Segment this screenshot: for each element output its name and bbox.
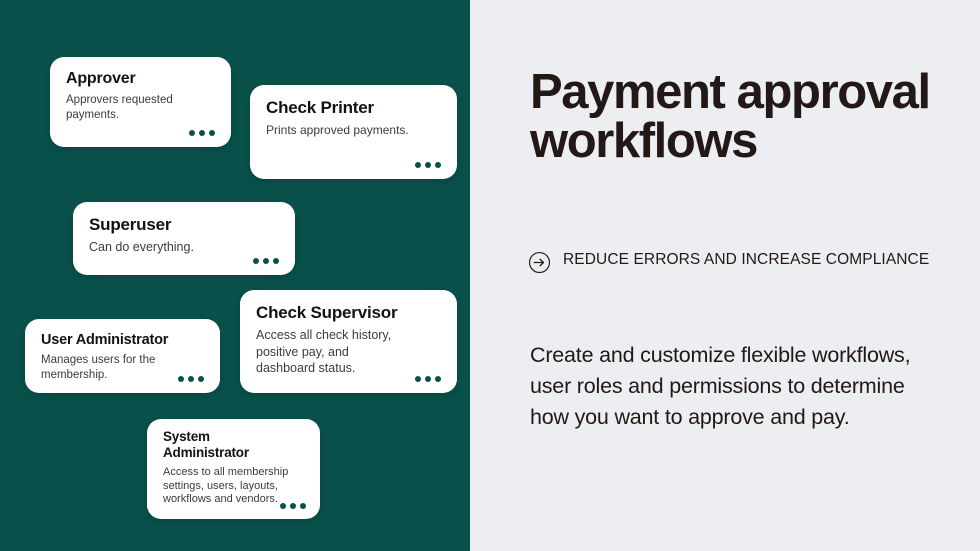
role-card-superuser[interactable]: Superuser Can do everything.	[73, 202, 295, 275]
more-horizontal-icon[interactable]	[280, 503, 306, 509]
eyebrow-row: REDUCE ERRORS AND INCREASE COMPLIANCE	[528, 250, 938, 274]
dot	[290, 503, 296, 509]
dot	[280, 503, 286, 509]
role-card-description: Access to all membership settings, users…	[163, 466, 298, 507]
slide-root: Approver Approvers requested payments. C…	[0, 0, 980, 551]
dot	[189, 130, 195, 136]
dot	[415, 376, 421, 382]
role-card-title: Check Printer	[266, 97, 441, 118]
role-card-title: Superuser	[89, 214, 279, 235]
body-paragraph: Create and customize flexible workflows,…	[530, 340, 930, 433]
role-card-title: System Administrator	[163, 429, 273, 461]
dot	[300, 503, 306, 509]
role-card-system-administrator[interactable]: System Administrator Access to all membe…	[147, 419, 320, 519]
arrow-right-circle-icon	[528, 251, 551, 274]
role-card-description: Manages users for the membership.	[41, 353, 186, 382]
role-card-title: User Administrator	[41, 331, 204, 349]
dot	[209, 130, 215, 136]
dot	[415, 162, 421, 168]
more-horizontal-icon[interactable]	[189, 130, 215, 136]
dot	[198, 376, 204, 382]
role-card-user-administrator[interactable]: User Administrator Manages users for the…	[25, 319, 220, 393]
left-green-panel: Approver Approvers requested payments. C…	[0, 0, 470, 551]
dot	[425, 376, 431, 382]
dot	[263, 258, 269, 264]
dot	[435, 162, 441, 168]
role-card-description: Prints approved payments.	[266, 123, 441, 138]
dot	[273, 258, 279, 264]
dot	[178, 376, 184, 382]
role-card-description: Approvers requested payments.	[66, 93, 206, 122]
more-horizontal-icon[interactable]	[178, 376, 204, 382]
role-card-description: Access all check history, positive pay, …	[256, 327, 396, 377]
more-horizontal-icon[interactable]	[253, 258, 279, 264]
eyebrow-label: REDUCE ERRORS AND INCREASE COMPLIANCE	[563, 250, 929, 269]
role-card-approver[interactable]: Approver Approvers requested payments.	[50, 57, 231, 147]
more-horizontal-icon[interactable]	[415, 162, 441, 168]
more-horizontal-icon[interactable]	[415, 376, 441, 382]
dot	[199, 130, 205, 136]
dot	[253, 258, 259, 264]
role-card-description: Can do everything.	[89, 239, 279, 255]
role-card-check-supervisor[interactable]: Check Supervisor Access all check histor…	[240, 290, 457, 393]
right-content-panel: Payment approval workflows REDUCE ERRORS…	[470, 0, 980, 551]
page-title: Payment approval workflows	[530, 68, 950, 166]
role-card-title: Check Supervisor	[256, 302, 441, 323]
role-card-check-printer[interactable]: Check Printer Prints approved payments.	[250, 85, 457, 179]
dot	[425, 162, 431, 168]
role-card-title: Approver	[66, 69, 215, 89]
dot	[188, 376, 194, 382]
dot	[435, 376, 441, 382]
